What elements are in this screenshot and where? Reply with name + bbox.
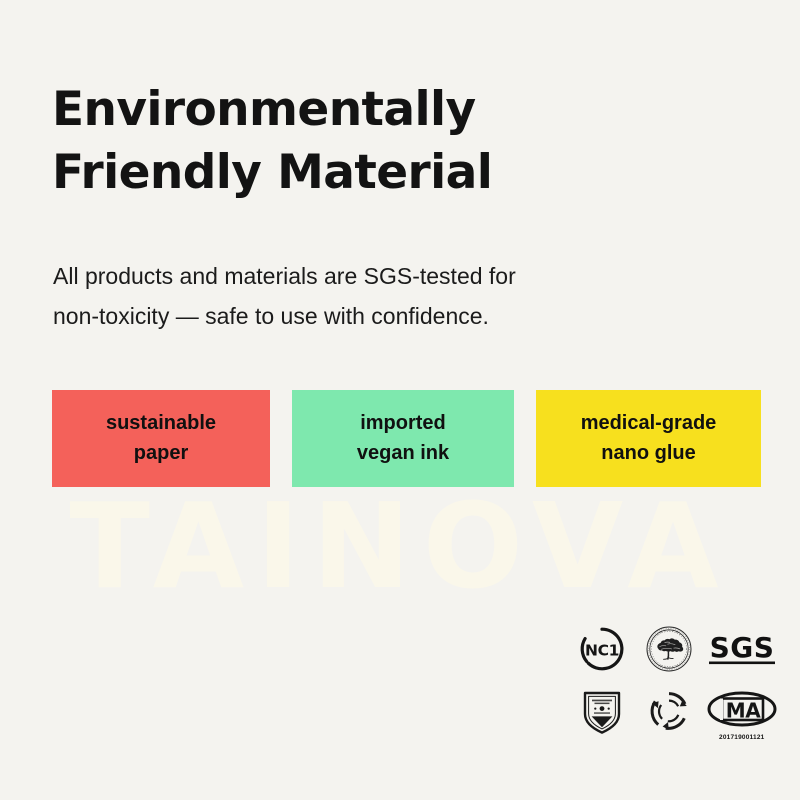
nc1-certification-badge-icon: NC1 <box>572 620 633 678</box>
material-tag-sustainable-paper: sustainable paper <box>52 390 270 487</box>
material-tag-label-line-2: vegan ink <box>357 439 449 469</box>
cma-certification-number: 201719001121 <box>706 734 779 741</box>
page-title-line-2: Friendly Material <box>52 142 692 205</box>
page-subtitle: All products and materials are SGS-teste… <box>53 257 653 336</box>
recycling-symbol-badge-icon <box>639 682 700 740</box>
material-tag-imported-vegan-ink: imported vegan ink <box>292 390 514 487</box>
material-tag-label-line-2: nano glue <box>601 439 695 469</box>
poster-canvas: TAINOVA Environmentally Friendly Materia… <box>0 0 800 800</box>
page-subtitle-line-1: All products and materials are SGS-teste… <box>53 257 653 297</box>
page-subtitle-line-2: non-toxicity — safe to use with confiden… <box>53 297 653 337</box>
page-title-line-1: Environmentally <box>52 79 692 142</box>
cma-wordmark: MA <box>726 699 761 723</box>
material-tag-label-line-2: paper <box>134 439 188 469</box>
cma-certification-badge-icon: MA 201719001121 <box>706 682 779 740</box>
sgs-wordmark: SGS <box>709 631 774 664</box>
material-tag-label-line-1: medical-grade <box>581 409 717 439</box>
certification-badge-row-1: NC1 <box>572 618 778 680</box>
material-tag-label-line-1: sustainable <box>106 409 216 439</box>
material-tag-list: sustainable paper imported vegan ink med… <box>52 390 761 487</box>
shield-certification-badge-icon <box>572 682 633 740</box>
page-title: Environmentally Friendly Material <box>52 79 692 205</box>
material-tag-medical-grade-nano-glue: medical-grade nano glue <box>536 390 761 487</box>
material-tag-label-line-1: imported <box>360 409 446 439</box>
certification-badge-group: NC1 <box>572 618 778 742</box>
fsc-tree-seal-badge-icon <box>639 620 700 678</box>
svg-text:NC1: NC1 <box>585 641 619 659</box>
certification-badge-row-2: MA 201719001121 <box>572 680 778 742</box>
brand-watermark: TAINOVA <box>0 487 800 605</box>
sgs-certification-badge-icon: SGS <box>706 620 779 678</box>
